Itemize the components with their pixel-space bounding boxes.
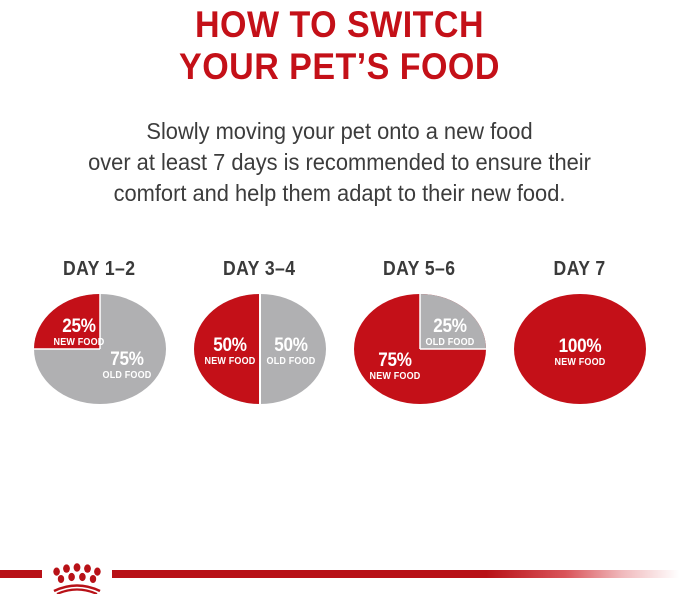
footer-rule-right bbox=[112, 570, 679, 578]
pie-graphic-3: 25% OLD FOOD 75% NEW FOOD bbox=[354, 294, 486, 404]
day-label-3: DAY 5–6 bbox=[383, 258, 456, 281]
intro-line-3: comfort and help them adapt to their new… bbox=[17, 178, 662, 209]
day-label-2: DAY 3–4 bbox=[223, 258, 296, 281]
pie-day-1-2: DAY 1–2 25% NEW FOOD 75% OLD FOOD bbox=[20, 258, 180, 404]
slice-new-food-2 bbox=[194, 294, 260, 404]
pie-graphic-1: 25% NEW FOOD 75% OLD FOOD bbox=[34, 294, 166, 404]
intro-line-2: over at least 7 days is recommended to e… bbox=[17, 147, 662, 178]
pie-graphic-2: 50% NEW FOOD 50% OLD FOOD bbox=[194, 294, 326, 404]
slice-new-food-4 bbox=[514, 294, 646, 404]
pie-svg-day-3-4 bbox=[194, 294, 326, 404]
pie-svg-day-7 bbox=[514, 294, 646, 404]
page-title: HOW TO SWITCH YOUR PET’S FOOD bbox=[0, 4, 679, 88]
footer-rule-left bbox=[0, 570, 42, 578]
pie-chart-row: DAY 1–2 25% NEW FOOD 75% OLD FOOD DAY 3–… bbox=[0, 258, 679, 438]
intro-paragraph: Slowly moving your pet onto a new food o… bbox=[0, 116, 679, 209]
pie-graphic-4: 100% NEW FOOD bbox=[514, 294, 646, 404]
pie-day-3-4: DAY 3–4 50% NEW FOOD 50% OLD FOOD bbox=[180, 258, 340, 404]
slice-new-food-1 bbox=[34, 294, 100, 349]
pie-svg-day-5-6 bbox=[354, 294, 486, 404]
slice-old-food-3 bbox=[420, 294, 486, 349]
pie-svg-day-1-2 bbox=[34, 294, 166, 404]
title-line-2: YOUR PET’S FOOD bbox=[27, 46, 652, 88]
day-label-4: DAY 7 bbox=[553, 258, 605, 281]
title-line-1: HOW TO SWITCH bbox=[27, 4, 652, 46]
intro-line-1: Slowly moving your pet onto a new food bbox=[17, 116, 662, 147]
footer bbox=[0, 563, 679, 594]
day-label-1: DAY 1–2 bbox=[63, 258, 136, 281]
pie-day-7: DAY 7 100% NEW FOOD bbox=[500, 258, 660, 404]
pie-day-5-6: DAY 5–6 25% OLD FOOD 75% NEW FOOD bbox=[340, 258, 500, 404]
royal-canin-crown-logo-icon bbox=[44, 563, 110, 594]
